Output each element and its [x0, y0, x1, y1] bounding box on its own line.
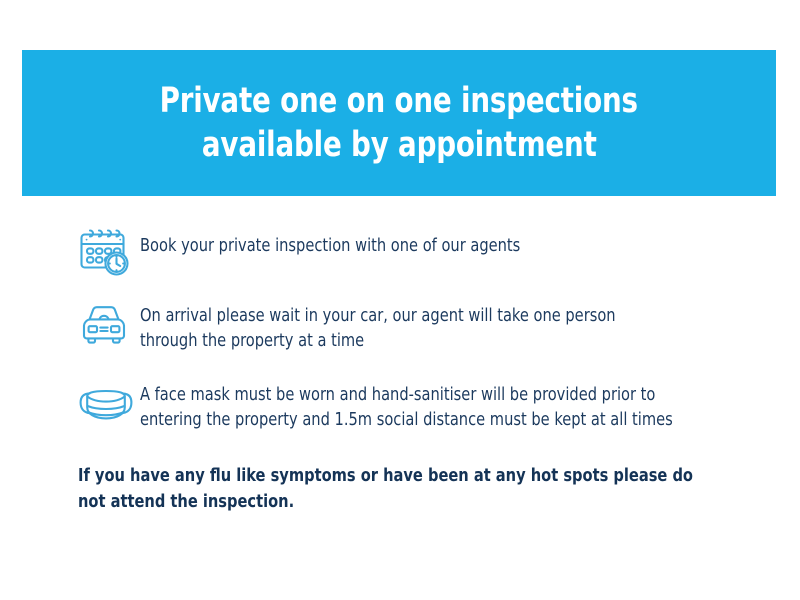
- list-item: On arrival please wait in your car, our …: [78, 302, 748, 355]
- list-item-line: A face mask must be worn and hand-saniti…: [140, 385, 655, 405]
- list-item-text: On arrival please wait in your car, our …: [140, 302, 705, 355]
- banner-title-line-1: Private one on one inspections: [160, 79, 638, 123]
- car-front-icon: [78, 302, 140, 348]
- list-item-text: A face mask must be worn and hand-saniti…: [140, 381, 705, 434]
- list-item-line: entering the property and 1.5m social di…: [140, 410, 673, 430]
- instruction-list: Book your private inspection with one of…: [78, 224, 748, 434]
- list-item-line: On arrival please wait in your car, our …: [140, 306, 616, 326]
- list-item: A face mask must be worn and hand-saniti…: [78, 381, 748, 434]
- list-item-text: Book your private inspection with one of…: [140, 224, 705, 259]
- face-mask-icon: [78, 381, 140, 427]
- list-item-line: Book your private inspection with one of…: [140, 236, 520, 256]
- footer-warning-note: If you have any flu like symptoms or hav…: [78, 463, 710, 516]
- inspection-notice-poster: Private one on one inspections available…: [0, 0, 800, 600]
- footer-line: If you have any flu like symptoms or hav…: [78, 466, 693, 486]
- list-item-line: through the property at a time: [140, 331, 364, 351]
- list-item: Book your private inspection with one of…: [78, 224, 748, 280]
- footer-line: not attend the inspection.: [78, 492, 294, 512]
- banner: Private one on one inspections available…: [22, 50, 776, 196]
- calendar-clock-icon: [78, 224, 140, 280]
- banner-title-line-2: available by appointment: [202, 123, 597, 167]
